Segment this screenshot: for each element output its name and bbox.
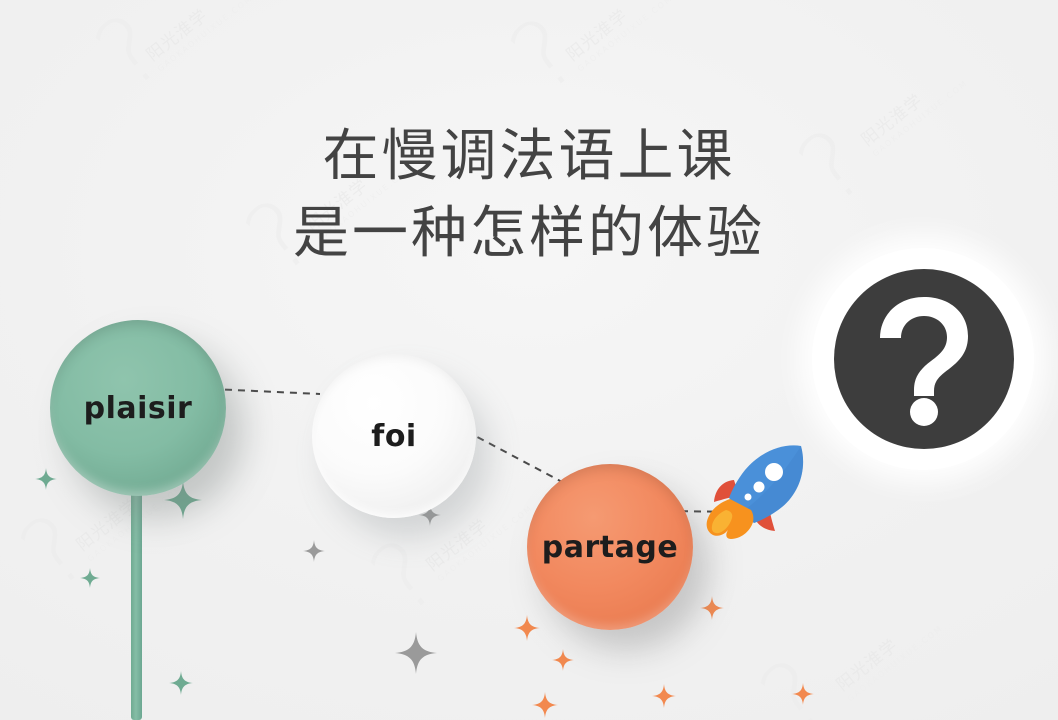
sparkle-gray-icon [395, 632, 437, 674]
watermark-question-icon: ? [356, 525, 454, 631]
sparkle-orange-icon [792, 683, 814, 705]
sparkle-gray-icon [303, 540, 325, 562]
question-mark-icon [868, 291, 980, 427]
bubble-partage[interactable]: partage [527, 464, 693, 630]
page-title: 在慢调法语上课 是一种怎样的体验 [0, 118, 1058, 273]
bubble-partage-label: partage [542, 530, 678, 565]
sparkle-orange-icon [652, 684, 676, 708]
watermark-text: 阳光淮学GAOKAOHUIXUE.COM [143, 0, 256, 74]
page-title-line-1: 在慢调法语上课 [0, 118, 1058, 195]
rocket-icon [704, 440, 812, 540]
sparkle-orange-icon [552, 649, 574, 671]
bubble-foi-label: foi [371, 419, 416, 454]
question-badge [834, 269, 1014, 449]
sparkle-green-icon [35, 468, 57, 490]
sparkle-orange-icon [532, 692, 558, 718]
watermark-question-icon: ? [6, 500, 104, 606]
bubble-foi[interactable]: foi [312, 354, 476, 518]
sparkle-green-icon [169, 671, 193, 695]
connector-foi-partage [466, 431, 566, 484]
watermark-text: 阳光淮学GAOKAOHUIXUE.COM [563, 0, 676, 74]
slide-canvas: ???????阳光淮学GAOKAOHUIXUE.COM阳光淮学GAOKAOHUI… [0, 0, 1058, 720]
sparkle-orange-icon [514, 615, 540, 641]
connector-plaisir-foi [212, 389, 320, 394]
watermark-question-icon: ? [496, 3, 594, 109]
watermark-question-icon: ? [81, 0, 179, 105]
sparkle-green-icon [80, 568, 100, 588]
bubble-plaisir-label: plaisir [84, 391, 193, 426]
bubble-plaisir[interactable]: plaisir [50, 320, 226, 496]
sparkle-orange-icon [700, 596, 724, 620]
watermark-text: 阳光淮学GAOKAOHUIXUE.COM [833, 607, 946, 705]
